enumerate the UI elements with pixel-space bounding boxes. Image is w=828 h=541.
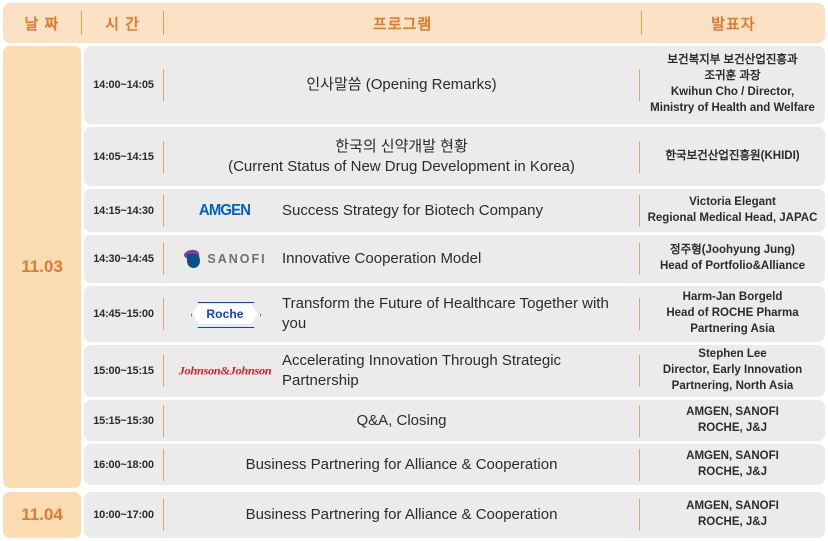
speaker-line: Partnering Asia xyxy=(666,322,798,338)
speaker-cell: 보건복지부 보건산업진흥과조귀훈 과장Kwihun Cho / Director… xyxy=(640,46,825,124)
speaker-line: Regional Medical Head, JAPAC xyxy=(648,211,818,227)
speaker-text: Stephen LeeDirector, Early InnovationPar… xyxy=(663,347,802,395)
table-row[interactable]: 14:00~14:05인사말씀 (Opening Remarks)보건복지부 보… xyxy=(84,46,825,124)
speaker-line: 한국보건산업진흥원(KHIDI) xyxy=(665,149,799,165)
table-header-row: 날 짜 시 간 프로그램 발표자 xyxy=(3,3,825,43)
sanofi-logo-group: SANOFI xyxy=(183,249,266,269)
program-title-line: Accelerating Innovation Through Strategi… xyxy=(282,351,631,391)
time-cell: 10:00~17:00 xyxy=(84,492,163,538)
speaker-text: 정주형(Joohyung Jung)Head of Portfolio&Alli… xyxy=(660,243,805,275)
speaker-text: 보건복지부 보건산업진흥과조귀훈 과장Kwihun Cho / Director… xyxy=(650,53,815,116)
program-title-line: Business Partnering for Alliance & Coope… xyxy=(246,505,558,525)
speaker-line: ROCHE, J&J xyxy=(686,421,779,437)
speaker-line: Head of ROCHE Pharma xyxy=(666,306,798,322)
program-title: Innovative Cooperation Model xyxy=(282,249,481,269)
time-cell: 14:45~15:00 xyxy=(84,286,163,342)
program-title: Transform the Future of Healthcare Toget… xyxy=(282,294,631,334)
program-title-line: Business Partnering for Alliance & Coope… xyxy=(246,455,558,475)
program-title-line: Innovative Cooperation Model xyxy=(282,249,481,269)
speaker-line: 조귀훈 과장 xyxy=(650,69,815,85)
jnj-logo-text: Johnson&Johnson xyxy=(179,364,272,378)
amgen-logo-text: AMGEN xyxy=(199,202,250,220)
table-row[interactable]: 15:15~15:30Q&A, ClosingAMGEN, SANOFIROCH… xyxy=(84,400,825,441)
program-cell: Business Partnering for Alliance & Coope… xyxy=(164,444,639,485)
johnson-and-johnson-logo: Johnson&Johnson xyxy=(182,356,268,386)
table-row[interactable]: 15:00~15:15Johnson&JohnsonAccelerating I… xyxy=(84,345,825,397)
speaker-text: AMGEN, SANOFIROCHE, J&J xyxy=(686,405,779,437)
program-title: Business Partnering for Alliance & Coope… xyxy=(246,505,558,525)
amgen-logo: AMGEN xyxy=(182,196,268,226)
speaker-line: Stephen Lee xyxy=(663,347,802,363)
column-header-speaker: 발표자 xyxy=(642,3,825,43)
speaker-line: ROCHE, J&J xyxy=(686,515,779,531)
time-cell: 15:15~15:30 xyxy=(84,400,163,441)
roche-logo: Roche xyxy=(182,299,268,329)
speaker-text: AMGEN, SANOFIROCHE, J&J xyxy=(686,449,779,481)
speaker-cell: Harm-Jan BorgeldHead of ROCHE PharmaPart… xyxy=(640,286,825,342)
program-cell: Business Partnering for Alliance & Coope… xyxy=(164,492,639,538)
speaker-text: Victoria ElegantRegional Medical Head, J… xyxy=(648,195,818,227)
speaker-cell: 한국보건산업진흥원(KHIDI) xyxy=(640,127,825,186)
speaker-line: AMGEN, SANOFI xyxy=(686,405,779,421)
date-cell-1104: 11.04 xyxy=(3,492,81,538)
speaker-line: AMGEN, SANOFI xyxy=(686,449,779,465)
sanofi-logo-text: SANOFI xyxy=(207,252,266,266)
speaker-line: Kwihun Cho / Director, xyxy=(650,85,815,101)
column-header-date: 날 짜 xyxy=(3,3,81,43)
table-row[interactable]: 16:00~18:00Business Partnering for Allia… xyxy=(84,444,825,485)
speaker-line: 보건복지부 보건산업진흥과 xyxy=(650,53,815,69)
speaker-cell: AMGEN, SANOFIROCHE, J&J xyxy=(640,400,825,441)
program-title: 인사말씀 (Opening Remarks) xyxy=(306,75,496,95)
speaker-line: Victoria Elegant xyxy=(648,195,818,211)
roche-logo-text: Roche xyxy=(206,307,243,321)
program-cell: Q&A, Closing xyxy=(164,400,639,441)
program-cell: 한국의 신약개발 현황(Current Status of New Drug D… xyxy=(164,127,639,186)
program-cell: RocheTransform the Future of Healthcare … xyxy=(164,286,639,342)
speaker-cell: Stephen LeeDirector, Early InnovationPar… xyxy=(640,345,825,397)
speaker-line: 정주형(Joohyung Jung) xyxy=(660,243,805,259)
table-row[interactable]: 14:15~14:30AMGENSuccess Strategy for Bio… xyxy=(84,189,825,232)
program-cell: 인사말씀 (Opening Remarks) xyxy=(164,46,639,124)
program-title-line: (Current Status of New Drug Development … xyxy=(228,157,575,177)
program-cell: AMGENSuccess Strategy for Biotech Compan… xyxy=(164,189,639,232)
program-cell: SANOFIInnovative Cooperation Model xyxy=(164,235,639,283)
speaker-cell: Victoria ElegantRegional Medical Head, J… xyxy=(640,189,825,232)
speaker-cell: AMGEN, SANOFIROCHE, J&J xyxy=(640,444,825,485)
table-row[interactable]: 10:00~17:00Business Partnering for Allia… xyxy=(84,492,825,538)
speaker-line: Ministry of Health and Welfare xyxy=(650,101,815,117)
speaker-line: Partnering, North Asia xyxy=(663,379,802,395)
sanofi-swirl-icon xyxy=(183,249,203,269)
table-body: 11.03 11.04 14:00~14:05인사말씀 (Opening Rem… xyxy=(3,46,825,538)
program-title: Business Partnering for Alliance & Coope… xyxy=(246,455,558,475)
program-cell: Johnson&JohnsonAccelerating Innovation T… xyxy=(164,345,639,397)
program-title-line: 인사말씀 (Opening Remarks) xyxy=(306,75,496,95)
date-label: 11.03 xyxy=(21,257,63,277)
program-title: Q&A, Closing xyxy=(356,411,446,431)
table-row[interactable]: 14:30~14:45SANOFIInnovative Cooperation … xyxy=(84,235,825,283)
program-title: 한국의 신약개발 현황(Current Status of New Drug D… xyxy=(228,137,575,177)
speaker-text: 한국보건산업진흥원(KHIDI) xyxy=(665,149,799,165)
program-title-line: Q&A, Closing xyxy=(356,411,446,431)
speaker-line: ROCHE, J&J xyxy=(686,465,779,481)
time-cell: 14:15~14:30 xyxy=(84,189,163,232)
speaker-text: Harm-Jan BorgeldHead of ROCHE PharmaPart… xyxy=(666,290,798,338)
program-title-line: Success Strategy for Biotech Company xyxy=(282,201,543,221)
column-header-time: 시 간 xyxy=(82,3,164,43)
sanofi-logo: SANOFI xyxy=(182,244,268,274)
time-cell: 15:00~15:15 xyxy=(84,345,163,397)
roche-hexagon-icon: Roche xyxy=(191,302,259,326)
speaker-line: Head of Portfolio&Alliance xyxy=(660,259,805,275)
speaker-cell: 정주형(Joohyung Jung)Head of Portfolio&Alli… xyxy=(640,235,825,283)
program-title: Success Strategy for Biotech Company xyxy=(282,201,543,221)
speaker-line: AMGEN, SANOFI xyxy=(686,499,779,515)
column-header-program: 프로그램 xyxy=(164,3,640,43)
time-cell: 14:05~14:15 xyxy=(84,127,163,186)
speaker-cell: AMGEN, SANOFIROCHE, J&J xyxy=(640,492,825,538)
time-cell: 14:30~14:45 xyxy=(84,235,163,283)
program-title-line: 한국의 신약개발 현황 xyxy=(228,137,575,157)
program-title: Accelerating Innovation Through Strategi… xyxy=(282,351,631,391)
table-row[interactable]: 14:45~15:00RocheTransform the Future of … xyxy=(84,286,825,342)
time-cell: 14:00~14:05 xyxy=(84,46,163,124)
date-label: 11.04 xyxy=(21,505,63,525)
program-title-line: Transform the Future of Healthcare Toget… xyxy=(282,294,631,334)
table-row[interactable]: 14:05~14:15한국의 신약개발 현황(Current Status of… xyxy=(84,127,825,186)
speaker-line: Director, Early Innovation xyxy=(663,363,802,379)
program-schedule-table: 날 짜 시 간 프로그램 발표자 11.03 11.04 14:00~14:05… xyxy=(0,0,828,541)
time-cell: 16:00~18:00 xyxy=(84,444,163,485)
speaker-text: AMGEN, SANOFIROCHE, J&J xyxy=(686,499,779,531)
date-cell-1103: 11.03 xyxy=(3,46,81,488)
speaker-line: Harm-Jan Borgeld xyxy=(666,290,798,306)
